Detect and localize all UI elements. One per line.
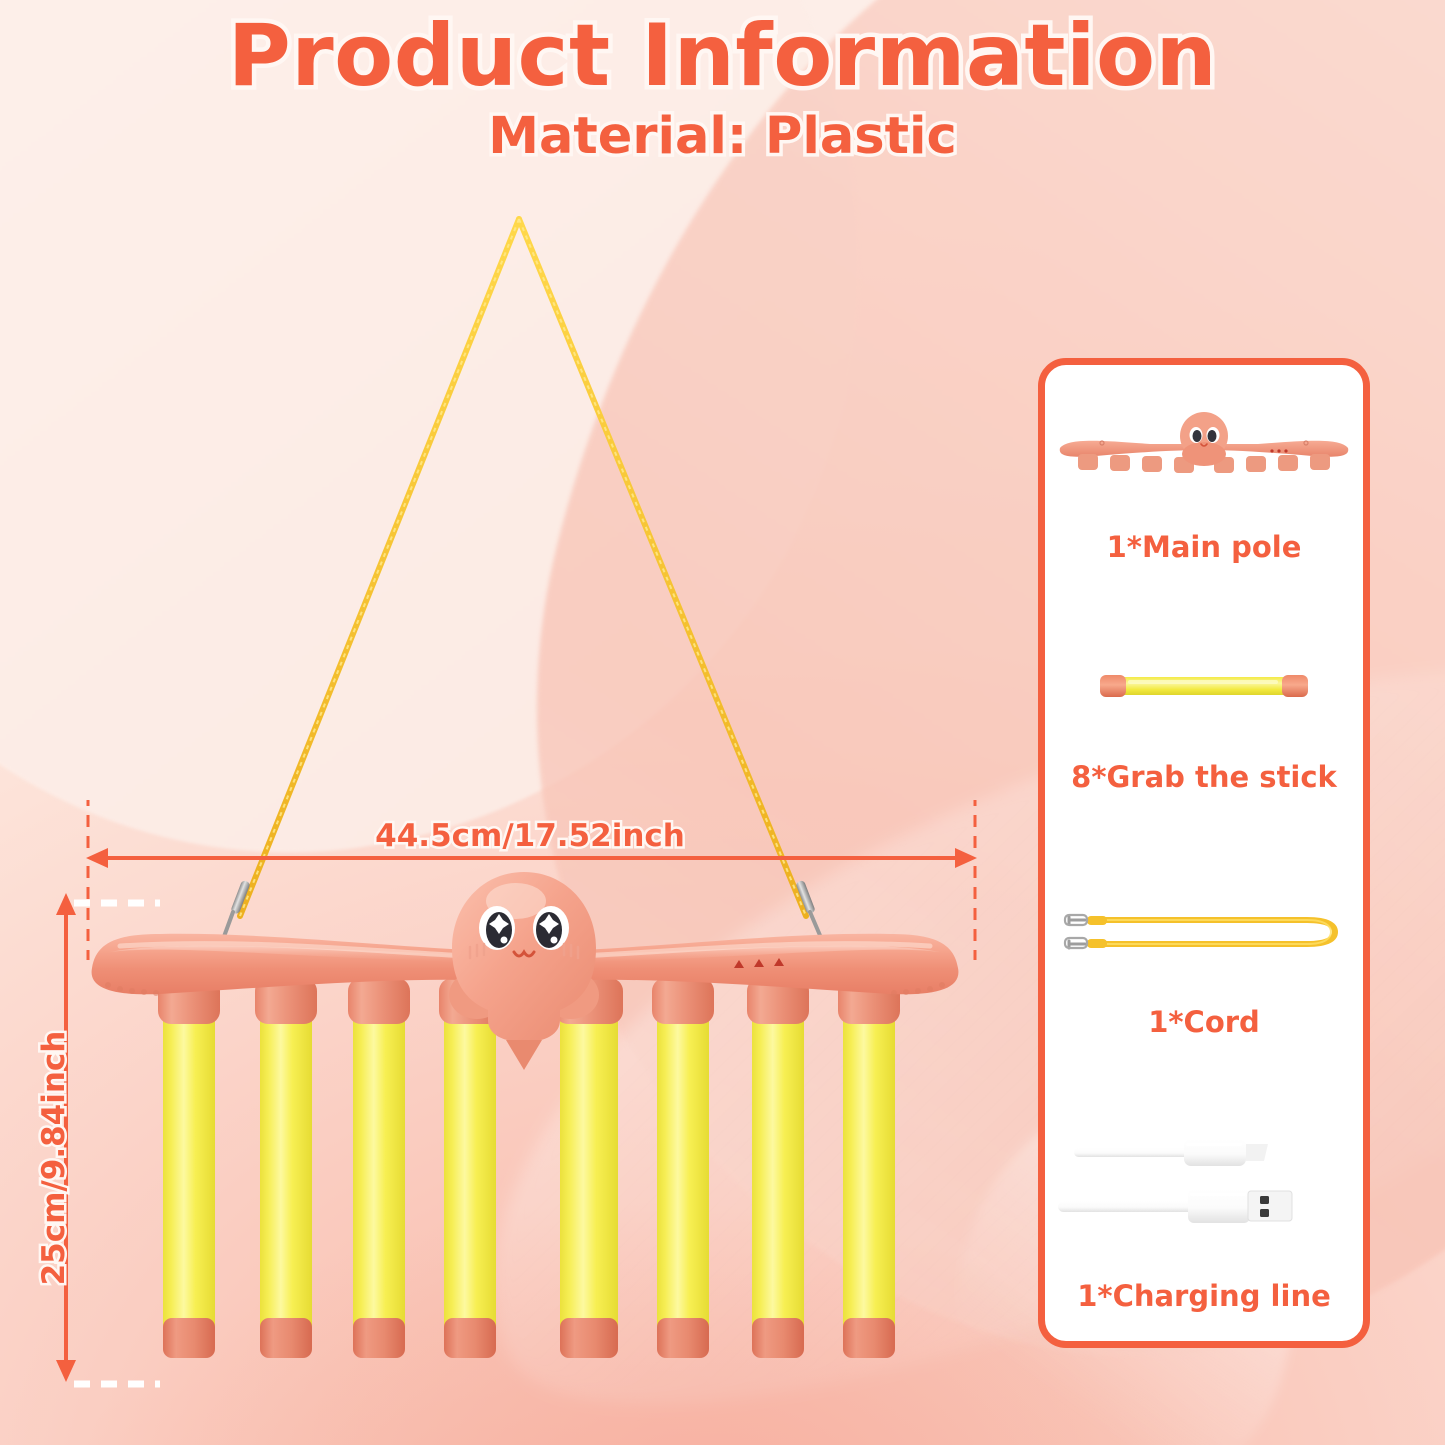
charging-line-illustration [1054, 1125, 1354, 1245]
parts-list-label: 8*Grab the stick [1071, 760, 1337, 794]
parts-list-label: 1*Cord [1148, 1005, 1260, 1039]
usb-a-connector [1058, 1189, 1292, 1223]
parts-list-item: 1*Main pole [1045, 365, 1363, 609]
grab-stick [843, 995, 895, 1358]
parts-list-label: 1*Charging line [1077, 1279, 1331, 1313]
cord-illustration [1059, 911, 1349, 953]
parts-list-panel: 1*Main pole [1038, 358, 1370, 1348]
grab-stick [444, 995, 496, 1358]
parts-list-label: 1*Main pole [1107, 530, 1302, 564]
height-dimension-label: 25cm/9.84inch [36, 998, 72, 1318]
parts-list-item: 1*Charging line [1045, 1097, 1363, 1341]
grab-stick [353, 995, 405, 1358]
parts-list-item: 1*Cord [1045, 853, 1363, 1097]
grab-stick-illustration [1094, 668, 1314, 704]
grab-stick [163, 995, 215, 1358]
micro-usb-connector [1074, 1139, 1268, 1166]
grab-stick [752, 995, 804, 1358]
parts-list-item: 8*Grab the stick [1045, 609, 1363, 853]
grab-stick [560, 995, 618, 1358]
grab-stick [260, 995, 312, 1358]
grab-stick [657, 995, 709, 1358]
main-pole-illustration [1054, 410, 1354, 480]
width-dimension-label: 44.5cm/17.52inch [330, 818, 730, 854]
product-information-graphic: Product Information Material: Plastic [0, 0, 1445, 1445]
